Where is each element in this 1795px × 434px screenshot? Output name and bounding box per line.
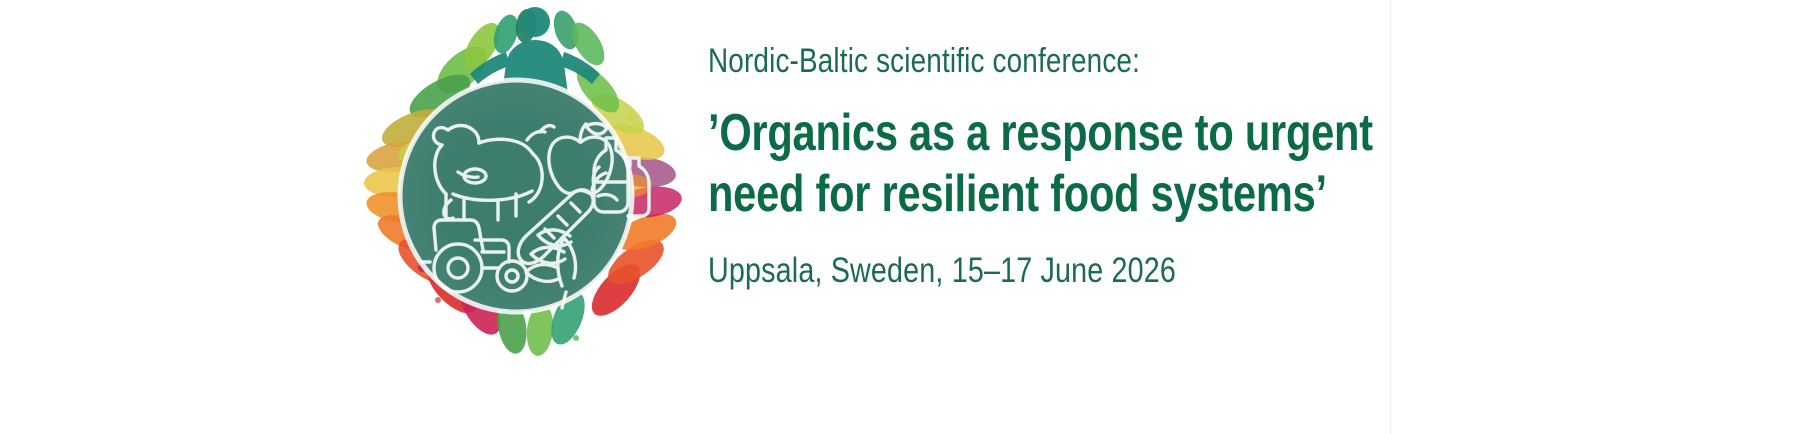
- conference-subtitle: Nordic-Baltic scientific conference:: [708, 40, 1249, 83]
- conference-banner: Nordic-Baltic scientific conference: ’Or…: [0, 0, 1795, 434]
- vertical-divider: [1390, 0, 1391, 434]
- conference-dateline: Uppsala, Sweden, 15–17 June 2026: [708, 249, 1249, 293]
- page-title-line-1: ’Organics as a response to urgent: [708, 103, 1236, 164]
- page-title: ’Organics as a response to urgent need f…: [708, 103, 1236, 226]
- organics-conference-logo: [330, 0, 702, 372]
- page-title-line-2: need for resilient food systems’: [708, 164, 1236, 225]
- conference-text-block: Nordic-Baltic scientific conference: ’Or…: [708, 40, 1368, 293]
